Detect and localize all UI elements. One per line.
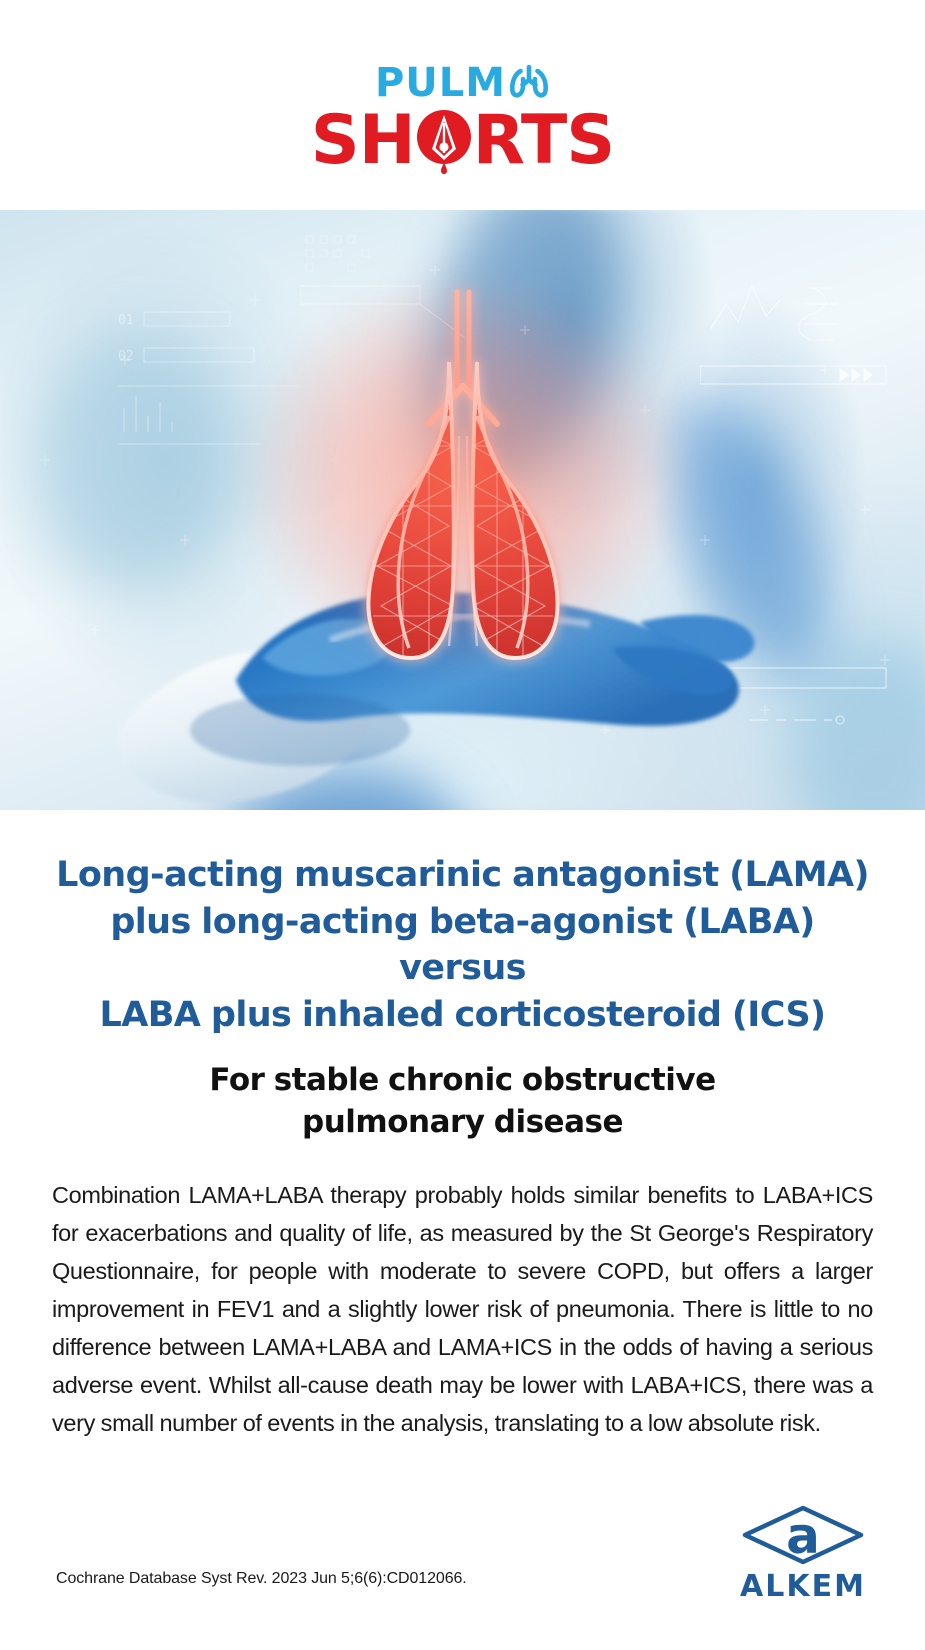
logo-shorts: SH RTS xyxy=(311,107,615,175)
alkem-diamond-a-icon: a xyxy=(739,1553,867,1570)
page-title: Long-acting muscarinic antagonist (LAMA)… xyxy=(52,852,873,1038)
subtitle-line-2: pulmonary disease xyxy=(52,1102,873,1144)
logo-pulmo-text: PULM xyxy=(375,63,506,103)
alkem-logo: a ALKEM xyxy=(733,1504,873,1604)
svg-text:a: a xyxy=(786,1507,820,1565)
footer: Cochrane Database Syst Rev. 2023 Jun 5;6… xyxy=(0,1440,925,1650)
page-subtitle: For stable chronic obstructive pulmonary… xyxy=(52,1060,873,1144)
hero-image: 01 02 xyxy=(0,210,925,810)
lungs-illustration xyxy=(253,266,673,686)
logo-shorts-suffix: RTS xyxy=(473,107,615,175)
brand-header: PULM SH RT xyxy=(0,0,925,210)
summary-paragraph: Combination LAMA+LABA therapy probably h… xyxy=(52,1176,873,1442)
logo-pulmo: PULM xyxy=(375,61,550,105)
subtitle-line-1: For stable chronic obstructive xyxy=(52,1060,873,1102)
title-line-3: LABA plus inhaled corticosteroid (ICS) xyxy=(52,992,873,1039)
alkem-wordmark: ALKEM xyxy=(733,1569,873,1604)
logo-shorts-prefix: SH xyxy=(311,107,415,175)
article-content: Long-acting muscarinic antagonist (LAMA)… xyxy=(0,852,925,1442)
title-line-1: Long-acting muscarinic antagonist (LAMA) xyxy=(52,852,873,899)
citation-text: Cochrane Database Syst Rev. 2023 Jun 5;6… xyxy=(56,1570,467,1588)
lungs-glow xyxy=(243,276,683,676)
title-line-2: plus long-acting beta-agonist (LABA) ver… xyxy=(52,899,873,992)
pen-nib-icon xyxy=(415,107,473,175)
lungs-icon xyxy=(508,61,550,105)
